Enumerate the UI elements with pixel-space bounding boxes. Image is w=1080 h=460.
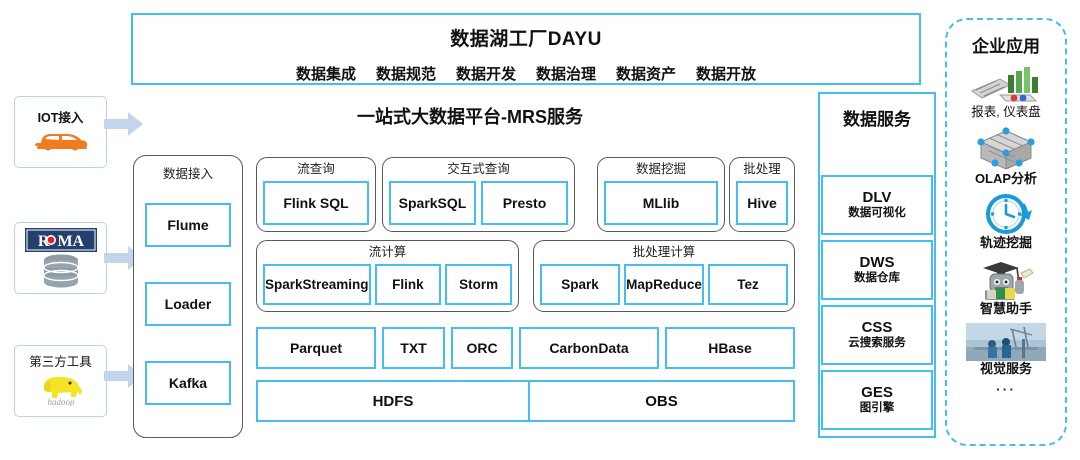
app-item-olap[interactable]: OLAP分析	[947, 127, 1065, 185]
ges-code: GES	[861, 384, 893, 401]
enterprise-apps-header: 企业应用	[947, 32, 1065, 57]
dayu-item-0: 数据集成	[296, 63, 356, 84]
cell-mllib[interactable]: MLlib	[604, 181, 718, 225]
format-txt[interactable]: TXT	[382, 327, 445, 369]
cell-flink-sql[interactable]: Flink SQL	[263, 181, 369, 225]
dws-code: DWS	[860, 254, 895, 271]
group-batch-compute: 批处理计算 Spark MapReduce Tez	[533, 240, 795, 312]
group-header-batch-processing: 批处理	[730, 163, 794, 177]
app-label-olap: OLAP分析	[975, 172, 1037, 185]
bar-chart-report-icon	[970, 65, 1042, 105]
format-parquet[interactable]: Parquet	[256, 327, 376, 369]
dws-name: 数据仓库	[854, 272, 900, 286]
format-hbase[interactable]: HBase	[665, 327, 795, 369]
cube-icon	[975, 127, 1037, 171]
source-card-iot: IOT接入	[14, 96, 107, 168]
data-service-item-dlv[interactable]: DLV 数据可视化	[821, 175, 933, 235]
cell-tez[interactable]: Tez	[708, 264, 788, 305]
ges-name: 图引擎	[860, 402, 895, 416]
css-code: CSS	[862, 319, 893, 336]
ingest-group-header: 数据接入	[134, 163, 242, 182]
app-item-report[interactable]: 报表, 仪表盘	[947, 65, 1065, 119]
source-card-third-party: 第三方工具 hadoop	[14, 345, 107, 417]
storage-hdfs[interactable]: HDFS	[256, 380, 530, 422]
group-header-batch-compute: 批处理计算	[534, 246, 794, 260]
cell-mapreduce[interactable]: MapReduce	[624, 264, 704, 305]
data-service-panel: 数据服务 DLV 数据可视化 DWS 数据仓库 CSS 云搜索服务 GES 图引…	[818, 92, 936, 438]
app-label-assistant: 智慧助手	[980, 302, 1032, 315]
cell-sparksql[interactable]: SparkSQL	[389, 181, 476, 225]
dlv-name: 数据可视化	[848, 207, 906, 221]
format-orc[interactable]: ORC	[451, 327, 513, 369]
ingest-group: 数据接入 Flume Loader Kafka	[133, 155, 243, 438]
source-label-iot: IOT接入	[38, 112, 84, 125]
app-label-report: 报表, 仪表盘	[971, 106, 1040, 119]
cell-flink[interactable]: Flink	[375, 264, 442, 305]
roma-logo-icon: R MA	[25, 228, 97, 252]
cell-spark[interactable]: Spark	[540, 264, 620, 305]
group-header-data-mining: 数据挖掘	[598, 163, 724, 177]
enterprise-more-ellipsis: ···	[947, 381, 1065, 397]
app-item-vision[interactable]: 视觉服务	[947, 323, 1065, 375]
mrs-platform-title: 一站式大数据平台-MRS服务	[150, 103, 790, 129]
dayu-item-5: 数据开放	[696, 63, 756, 84]
app-item-assistant[interactable]: 智慧助手	[947, 257, 1065, 315]
dayu-capability-list: 数据集成 数据规范 数据开发 数据治理 数据资产 数据开放	[133, 63, 919, 84]
data-service-item-css[interactable]: CSS 云搜索服务	[821, 305, 933, 365]
format-carbondata[interactable]: CarbonData	[519, 327, 659, 369]
storage-obs[interactable]: OBS	[528, 380, 795, 422]
dlv-code: DLV	[863, 189, 892, 206]
source-label-third-party: 第三方工具	[29, 356, 92, 369]
group-stream-query: 流查询 Flink SQL	[256, 157, 376, 232]
dayu-item-1: 数据规范	[376, 63, 436, 84]
flow-arrow-iot	[104, 111, 144, 137]
data-service-header: 数据服务	[820, 105, 934, 130]
svg-text:hadoop: hadoop	[47, 397, 75, 406]
database-icon	[38, 254, 84, 288]
group-interactive-query: 交互式查询 SparkSQL Presto	[382, 157, 575, 232]
data-service-item-ges[interactable]: GES 图引擎	[821, 370, 933, 430]
cell-storm[interactable]: Storm	[445, 264, 512, 305]
group-data-mining: 数据挖掘 MLlib	[597, 157, 725, 232]
group-header-stream-query: 流查询	[257, 163, 375, 177]
app-label-track: 轨迹挖掘	[980, 236, 1032, 249]
dayu-item-4: 数据资产	[616, 63, 676, 84]
cell-hive[interactable]: Hive	[736, 181, 788, 225]
dayu-title: 数据湖工厂DAYU	[133, 24, 919, 51]
svg-text:R MA: R MA	[37, 233, 84, 250]
dayu-banner: 数据湖工厂DAYU 数据集成 数据规范 数据开发 数据治理 数据资产 数据开放	[131, 13, 921, 85]
ingest-item-flume[interactable]: Flume	[145, 203, 231, 247]
group-batch-processing: 批处理 Hive	[729, 157, 795, 232]
app-item-track[interactable]: 轨迹挖掘	[947, 193, 1065, 249]
cell-sparkstreaming[interactable]: SparkStreaming	[263, 264, 371, 305]
group-header-interactive-query: 交互式查询	[383, 163, 574, 177]
enterprise-apps-panel: 企业应用 报表, 仪表盘 OLAP分析	[945, 18, 1067, 446]
group-header-stream-compute: 流计算	[257, 246, 518, 260]
data-service-item-dws[interactable]: DWS 数据仓库	[821, 240, 933, 300]
dayu-item-3: 数据治理	[536, 63, 596, 84]
cell-presto[interactable]: Presto	[481, 181, 568, 225]
hadoop-elephant-icon: hadoop	[30, 370, 92, 406]
source-card-roma: R MA	[14, 222, 107, 294]
app-label-vision: 视觉服务	[980, 362, 1032, 375]
ingest-item-loader[interactable]: Loader	[145, 282, 231, 326]
robot-graduate-icon	[973, 257, 1039, 301]
dayu-item-2: 数据开发	[456, 63, 516, 84]
ingest-item-kafka[interactable]: Kafka	[145, 361, 231, 405]
group-stream-compute: 流计算 SparkStreaming Flink Storm	[256, 240, 519, 312]
photo-icon	[966, 323, 1046, 361]
css-name: 云搜索服务	[848, 337, 906, 351]
clock-icon	[975, 193, 1037, 235]
car-icon	[33, 126, 89, 152]
